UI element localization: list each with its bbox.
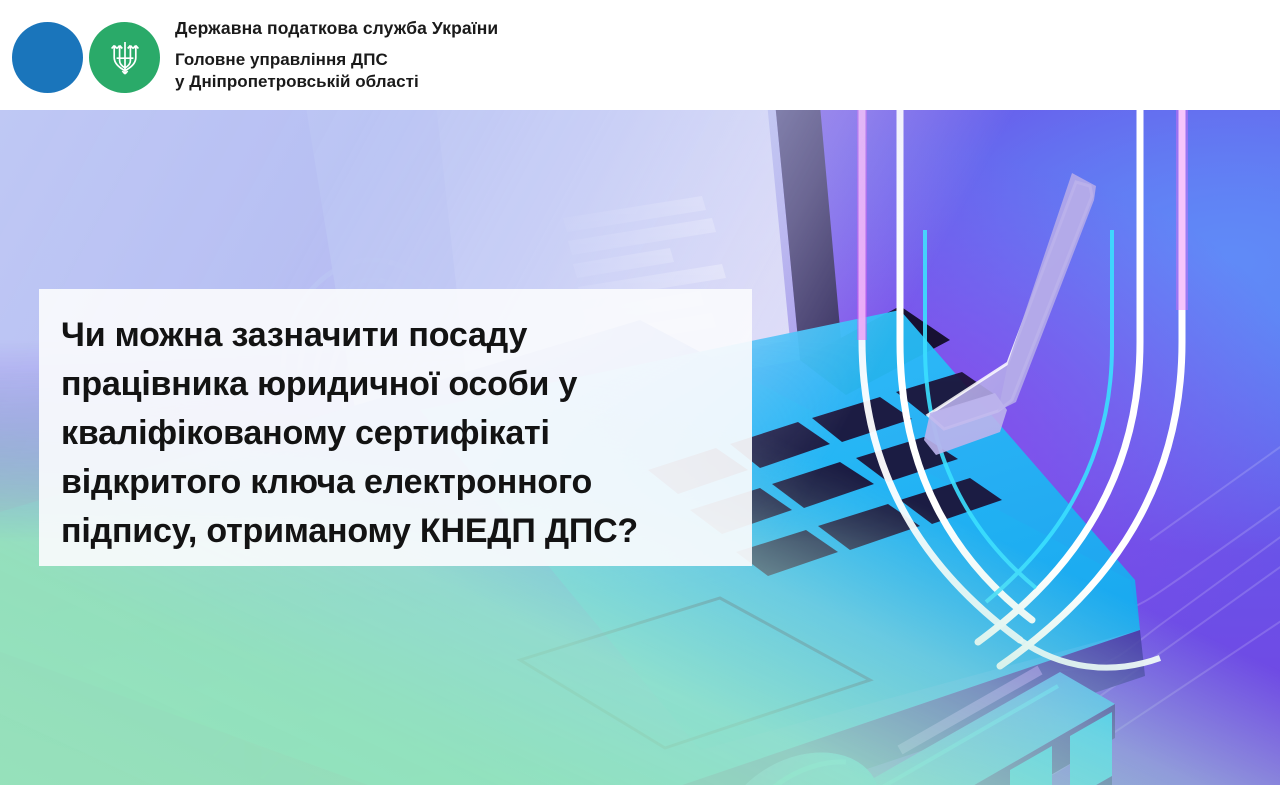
agency-logo[interactable] [12,22,162,94]
banner-illustration: Чи можна зазначити посаду працівника юри… [0,110,1280,785]
headline-line-5: підпису, отриманому КНЕДП ДПС? [61,507,728,556]
site-header: Державна податкова служба України Головн… [0,0,1280,110]
headline-line-1: Чи можна зазначити посаду [61,311,728,360]
ukraine-trident-icon [110,38,140,78]
organization-title: Державна податкова служба України [175,18,498,38]
logo-blue-circle-icon [12,22,83,93]
department-line-2: у Дніпропетровській області [175,71,498,93]
headline-line-4: відкритого ключа електронного [61,458,728,507]
headline-line-2: працівника юридичної особи у [61,360,728,409]
page-root: Державна податкова служба України Головн… [0,0,1280,785]
department-name: Головне управління ДПС у Дніпропетровськ… [175,49,498,93]
department-line-1: Головне управління ДПС [175,49,498,71]
header-text-block: Державна податкова служба України Головн… [175,18,498,93]
headline-textbox: Чи можна зазначити посаду працівника юри… [39,289,752,566]
headline-line-3: кваліфікованому сертифікаті [61,409,728,458]
